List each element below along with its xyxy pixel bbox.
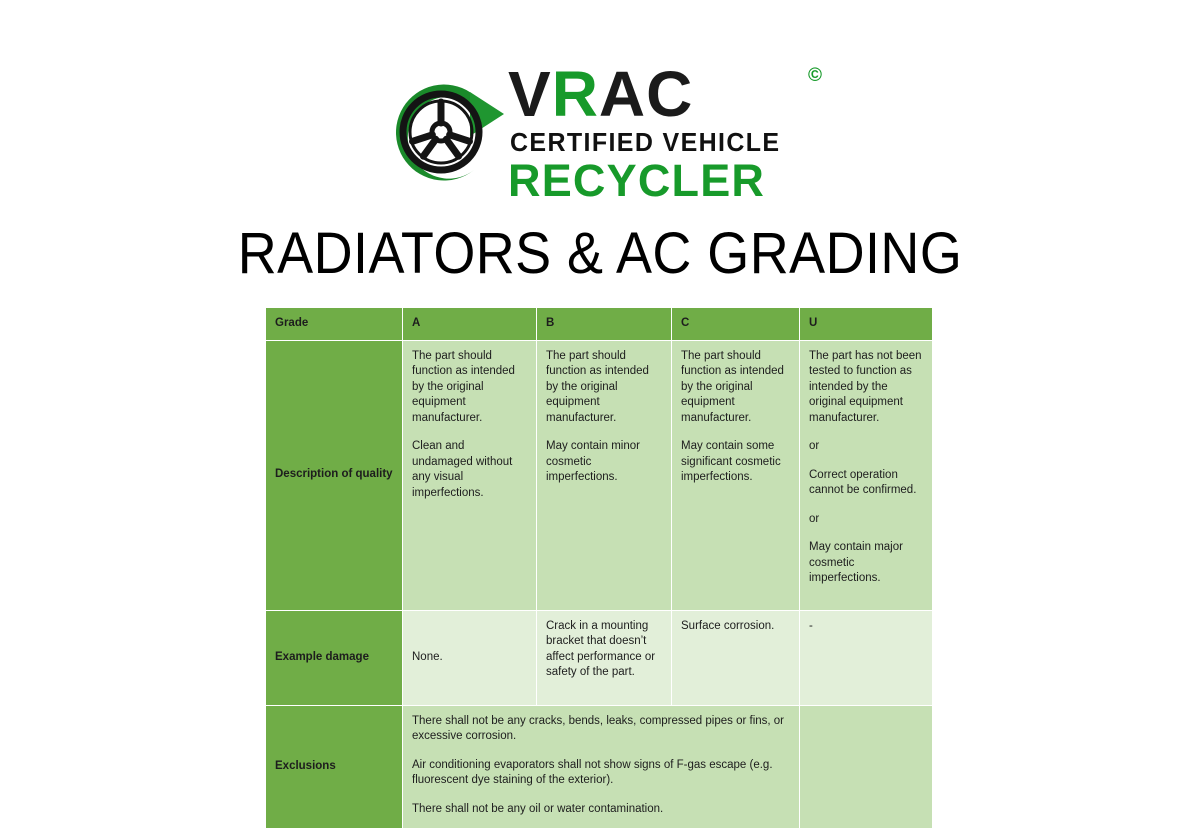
header-grade-u: U xyxy=(800,308,933,341)
grading-table: Grade A B C U Description of quality The… xyxy=(265,307,933,829)
vrac-wheel-recycle-logo-icon xyxy=(378,66,510,196)
cell-description-u-p1: The part has not been tested to function… xyxy=(809,349,924,427)
header-grade-a: A xyxy=(403,308,537,341)
cell-description-a-p1: The part should function as intended by … xyxy=(412,349,528,427)
header-grade-label: Grade xyxy=(266,308,403,341)
cell-exclusions-p1: There shall not be any cracks, bends, le… xyxy=(412,714,791,745)
vrac-letter-v: V xyxy=(508,58,552,130)
cell-description-u-p4: or xyxy=(809,512,924,528)
cell-example-a: None. xyxy=(403,610,537,705)
cell-description-a: The part should function as intended by … xyxy=(403,340,537,610)
header-grade-b: B xyxy=(537,308,672,341)
cell-description-b-p2: May contain minor cosmetic imperfections… xyxy=(546,439,663,486)
vrac-letter-r: R xyxy=(552,58,599,130)
page-title: RADIATORS & AC GRADING xyxy=(42,222,1158,286)
cell-description-u-p2: or xyxy=(809,439,924,455)
cell-description-b: The part should function as intended by … xyxy=(537,340,672,610)
cell-exclusions-abc: There shall not be any cracks, bends, le… xyxy=(403,705,800,828)
logo-tagline-certified-vehicle: CERTIFIED VEHICLE xyxy=(510,130,780,156)
cell-description-c: The part should function as intended by … xyxy=(672,340,800,610)
cell-example-b-p1: Crack in a mounting bracket that doesn’t… xyxy=(546,619,663,681)
cell-description-c-p1: The part should function as intended by … xyxy=(681,349,791,427)
vrac-wordmark-text: VRAC xyxy=(508,62,693,126)
cell-exclusions-u xyxy=(800,705,933,828)
header-grade-c: C xyxy=(672,308,800,341)
cell-example-c: Surface corrosion. xyxy=(672,610,800,705)
logo-tagline-recycler: RECYCLER xyxy=(508,158,765,203)
vrac-wordmark: VRAC © CERTIFIED VEHICLE RECYCLER xyxy=(508,58,840,203)
table-row-example-damage: Example damage None. Crack in a mounting… xyxy=(266,610,933,705)
vrac-letters-ac: AC xyxy=(599,58,693,130)
cell-description-u-p5: May contain major cosmetic imperfections… xyxy=(809,540,924,587)
table-header-row: Grade A B C U xyxy=(266,308,933,341)
cell-description-u-p3: Correct operation cannot be confirmed. xyxy=(809,468,924,499)
cell-exclusions-p2: Air conditioning evaporators shall not s… xyxy=(412,758,791,789)
copyright-icon: © xyxy=(808,66,822,85)
row-label-exclusions: Exclusions xyxy=(266,705,403,828)
poster-page: VRAC © CERTIFIED VEHICLE RECYCLER RADIAT… xyxy=(0,0,1200,800)
cell-description-u: The part has not been tested to function… xyxy=(800,340,933,610)
table-row-exclusions: Exclusions There shall not be any cracks… xyxy=(266,705,933,828)
vrac-logo: VRAC © CERTIFIED VEHICLE RECYCLER xyxy=(370,58,840,203)
cell-description-a-p2: Clean and undamaged without any visual i… xyxy=(412,439,528,501)
cell-description-c-p2: May contain some significant cosmetic im… xyxy=(681,439,791,486)
row-label-example-damage: Example damage xyxy=(266,610,403,705)
cell-example-b: Crack in a mounting bracket that doesn’t… xyxy=(537,610,672,705)
cell-exclusions-p3: There shall not be any oil or water cont… xyxy=(412,802,791,818)
table-row-description-of-quality: Description of quality The part should f… xyxy=(266,340,933,610)
cell-example-c-p1: Surface corrosion. xyxy=(681,619,791,635)
cell-description-b-p1: The part should function as intended by … xyxy=(546,349,663,427)
cell-example-a-p1: None. xyxy=(412,650,528,666)
cell-example-u: - xyxy=(800,610,933,705)
row-label-description-of-quality: Description of quality xyxy=(266,340,403,610)
cell-example-u-p1: - xyxy=(809,619,924,635)
